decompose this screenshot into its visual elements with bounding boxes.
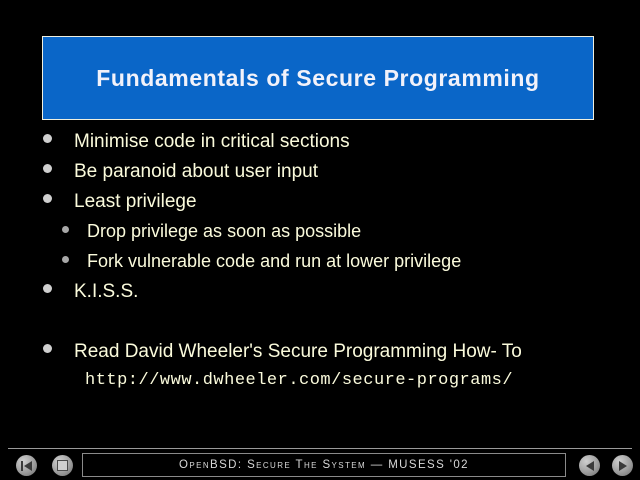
stop-button[interactable] [52,455,73,476]
first-slide-button[interactable] [16,455,37,476]
sub-bullet-dot-icon [62,256,69,263]
previous-slide-button[interactable] [579,455,600,476]
bullet-label: K.I.S.S. [74,281,138,303]
reference-url-row: http://www.dwheeler.com/secure-programs/ [0,371,640,399]
bullet-item: K.I.S.S. [0,281,640,311]
sub-bullet-label: Fork vulnerable code and run at lower pr… [87,251,461,272]
reference-url[interactable]: http://www.dwheeler.com/secure-programs/ [85,371,513,390]
bullet-item: Be paranoid about user input [0,161,640,191]
bullet-item: Read David Wheeler's Secure Programming … [0,341,640,371]
bullet-label: Read David Wheeler's Secure Programming … [74,341,522,363]
next-slide-button[interactable] [612,455,633,476]
bullet-dot-icon [43,164,52,173]
bullet-label: Be paranoid about user input [74,161,318,183]
slide-title-banner: Fundamentals of Secure Programming [42,36,594,120]
sub-bullet-dot-icon [62,226,69,233]
sub-bullet-label: Drop privilege as soon as possible [87,221,361,242]
bullet-label: Least privilege [74,191,197,213]
bullet-spacer [0,311,640,341]
sub-bullet-item: Drop privilege as soon as possible [0,221,640,251]
sub-bullet-item: Fork vulnerable code and run at lower pr… [0,251,640,281]
stop-square-icon [57,460,68,471]
slide-body: Minimise code in critical sections Be pa… [0,131,640,399]
footer-title-box: OpenBSD: Secure The System — MUSESS '02 [82,453,566,477]
slide-footer: OpenBSD: Secure The System — MUSESS '02 [0,452,640,480]
bullet-dot-icon [43,344,52,353]
bullet-item: Minimise code in critical sections [0,131,640,161]
bullet-dot-icon [43,194,52,203]
bullet-dot-icon [43,284,52,293]
bullet-item: Least privilege [0,191,640,221]
slide-title: Fundamentals of Secure Programming [96,65,539,92]
bullet-dot-icon [43,134,52,143]
footer-title: OpenBSD: Secure The System — MUSESS '02 [179,459,469,471]
presentation-slide: Fundamentals of Secure Programming Minim… [0,0,640,480]
chevron-right-icon [619,461,627,471]
skip-back-icon [21,461,32,471]
footer-divider [8,448,632,449]
bullet-label: Minimise code in critical sections [74,131,350,153]
chevron-left-icon [586,461,594,471]
